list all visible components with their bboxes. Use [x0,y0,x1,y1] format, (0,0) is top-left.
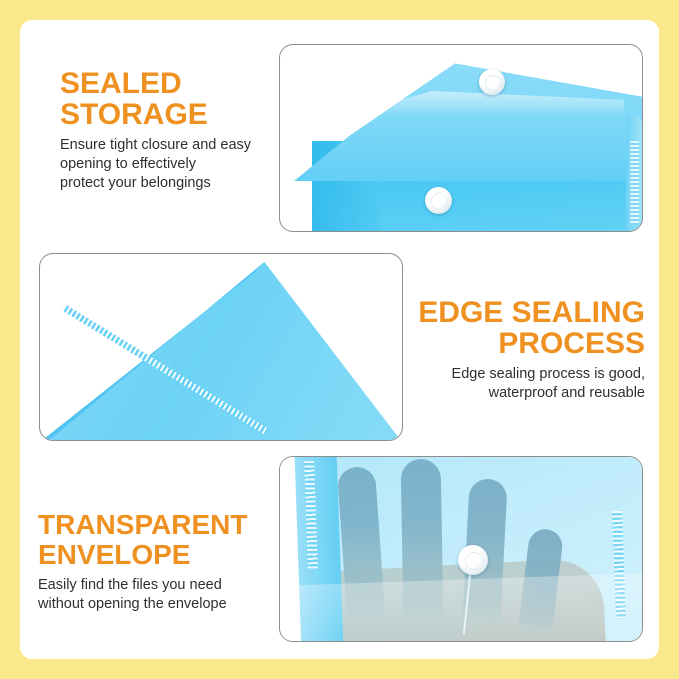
snap-button-icon [425,187,452,214]
feature-headline-line1: SEALED [60,68,251,99]
infographic-card: SEALED STORAGE Ensure tight closure and … [20,20,659,659]
product-photo-sealed-storage [279,44,643,232]
feature-body-line3: protect your belongings [60,174,251,193]
feature-headline-line2: STORAGE [60,99,251,130]
envelope-flap-shape [294,61,642,181]
feature-body-line2: waterproof and reusable [220,384,645,403]
feature-headline-line2: PROCESS [220,328,645,359]
feature-body-line1: Edge sealing process is good, [220,365,645,384]
snap-button-icon [458,545,488,575]
envelope-flap-highlight [324,91,624,117]
feature-headline-line2: ENVELOPE [38,540,247,570]
feature-block-transparent-envelope: TRANSPARENT ENVELOPE Easily find the fil… [38,510,247,614]
feature-body-line1: Easily find the files you need [38,576,247,595]
feature-body-line1: Ensure tight closure and easy [60,136,251,155]
photo-content-hand-behind-envelope [280,457,642,641]
feature-headline-line1: TRANSPARENT [38,510,247,540]
feature-body-line2: without opening the envelope [38,595,247,614]
envelope-edge-ridges [630,141,639,225]
photo-content-envelope-flap [280,45,642,231]
feature-headline-line1: EDGE SEALING [220,297,645,328]
feature-block-edge-sealing: EDGE SEALING PROCESS Edge sealing proces… [220,297,645,403]
snap-button-icon [479,69,505,95]
product-photo-transparent-envelope [279,456,643,642]
infographic-root: SEALED STORAGE Ensure tight closure and … [0,0,679,679]
feature-body-line2: opening to effectively [60,155,251,174]
feature-block-sealed-storage: SEALED STORAGE Ensure tight closure and … [60,68,251,193]
